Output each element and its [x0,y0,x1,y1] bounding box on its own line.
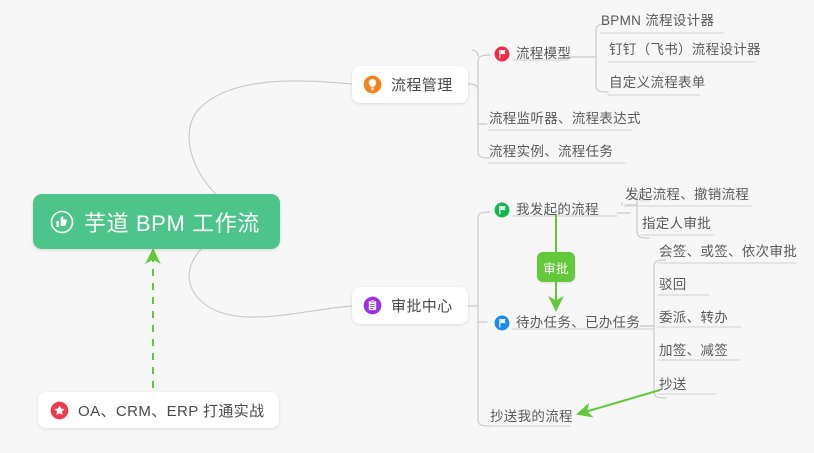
node-my-initiated[interactable]: 我发起的流程 [494,201,599,218]
branch-label: 流程管理 [391,74,453,95]
leaf-label: BPMN 流程设计器 [601,13,714,28]
leaf-label: 发起流程、撤销流程 [625,187,749,202]
clipboard-icon [363,296,382,315]
node-process-model[interactable]: 流程模型 [494,45,571,62]
node-todo-done-tasks[interactable]: 待办任务、已办任务 [494,314,640,331]
node-cc-to-me[interactable]: 抄送我的流程 [490,408,573,425]
branch-node-approval-center[interactable]: 审批中心 [352,287,468,324]
thumbs-up-icon [50,210,74,234]
approval-tag: 审批 [537,252,575,282]
integration-note-card[interactable]: OA、CRM、ERP 打通实战 [38,392,279,428]
leaf-label: 委派、转办 [659,310,728,325]
node-label: 流程监听器、流程表达式 [489,111,641,126]
leaf-cc[interactable]: 抄送 [659,376,687,393]
leaf-start-cancel-process[interactable]: 发起流程、撤销流程 [625,186,749,203]
node-process-instance[interactable]: 流程实例、流程任务 [489,143,613,160]
leaf-bpmn-designer[interactable]: BPMN 流程设计器 [601,12,714,29]
leaf-add-remove-sign[interactable]: 加签、减签 [659,342,728,359]
leaf-label: 自定义流程表单 [609,75,706,90]
leaf-label: 抄送 [659,377,687,392]
lightbulb-icon [363,75,382,94]
node-label: 抄送我的流程 [490,409,573,424]
node-label: 流程模型 [516,46,571,61]
leaf-label: 钉钉（飞书）流程设计器 [609,42,761,57]
branch-label: 审批中心 [391,295,453,316]
leaf-delegate-transfer[interactable]: 委派、转办 [659,309,728,326]
leaf-label: 会签、或签、依次审批 [659,244,797,259]
leaf-custom-form[interactable]: 自定义流程表单 [609,74,706,91]
leaf-dingtalk-designer[interactable]: 钉钉（飞书）流程设计器 [609,41,761,58]
leaf-label: 加签、减签 [659,343,728,358]
node-label: 流程实例、流程任务 [489,144,613,159]
branch-node-process-management[interactable]: 流程管理 [352,66,468,103]
approval-tag-label: 审批 [543,258,569,277]
leaf-label: 驳回 [659,277,687,292]
cc-flow-arrow [578,390,660,414]
star-icon [50,401,69,420]
node-label: 我发起的流程 [516,202,599,217]
node-label: 待办任务、已办任务 [516,315,640,330]
leaf-countersign[interactable]: 会签、或签、依次审批 [659,243,797,260]
leaf-reject[interactable]: 驳回 [659,276,687,293]
leaf-assignee-approval[interactable]: 指定人审批 [642,215,711,232]
flag-icon [494,202,510,222]
flag-icon [494,315,510,335]
root-label: 芋道 BPM 工作流 [84,206,260,238]
leaf-label: 指定人审批 [642,216,711,231]
integration-note-label: OA、CRM、ERP 打通实战 [78,400,265,421]
mindmap-canvas: 芋道 BPM 工作流 流程管理 审批中心 [0,0,814,453]
node-process-listener[interactable]: 流程监听器、流程表达式 [489,110,641,127]
flag-icon [494,46,510,66]
root-node[interactable]: 芋道 BPM 工作流 [33,194,280,249]
